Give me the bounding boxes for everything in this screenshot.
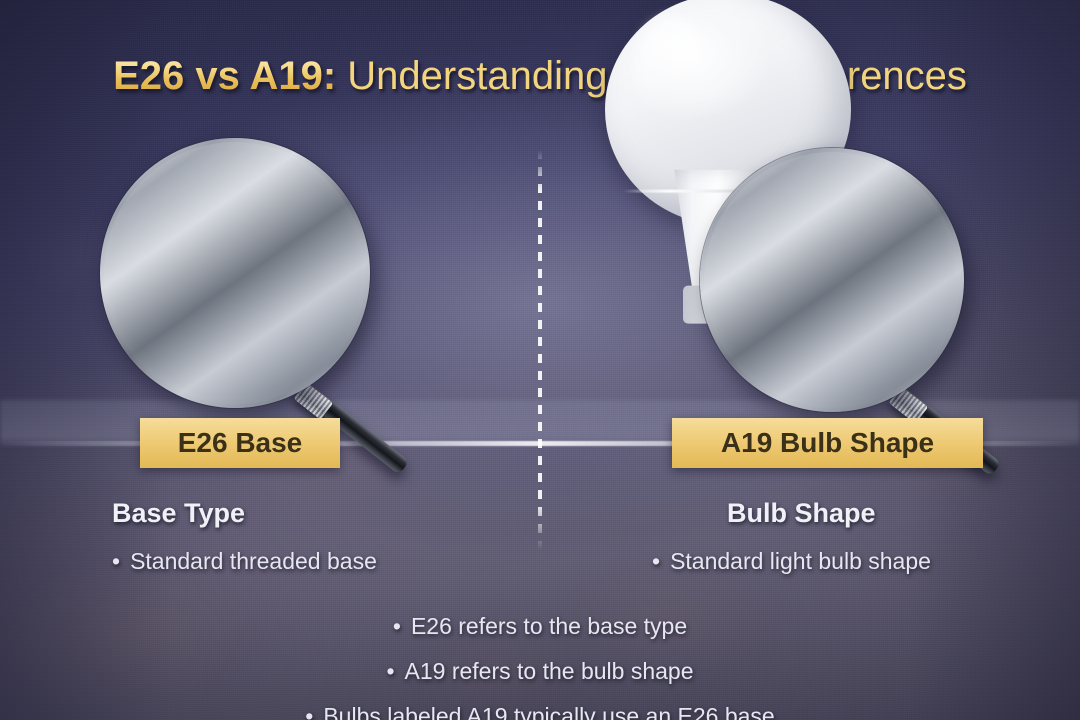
bullet-left-column: •Standard threaded base [112, 548, 377, 575]
bullet-right-column: •Standard light bulb shape [652, 548, 931, 575]
magnifier-left-e26 [100, 138, 370, 408]
magnifier-right-a19 [700, 148, 964, 412]
shared-point-text: E26 refers to the base type [411, 613, 687, 639]
bullet-marker-icon: • [112, 548, 120, 575]
bullet-left-text: Standard threaded base [130, 548, 377, 574]
bullet-marker-icon: • [652, 548, 660, 575]
bullet-marker-icon: • [393, 604, 401, 649]
list-item: •Bulbs labeled A19 typically use an E26 … [0, 694, 1080, 720]
vertical-dashed-divider [538, 150, 542, 550]
shared-point-text: Bulbs labeled A19 typically use an E26 b… [323, 703, 774, 720]
page-title: E26 vs A19: Understanding the Key Differ… [0, 52, 1080, 100]
bullet-right-text: Standard light bulb shape [670, 548, 931, 574]
heading-bulb-shape: Bulb Shape [727, 498, 876, 529]
shared-points-list: •E26 refers to the base type •A19 refers… [0, 604, 1080, 720]
list-item: •A19 refers to the bulb shape [0, 649, 1080, 694]
magnifier-ring-left [100, 138, 370, 408]
page-title-strong: E26 vs A19: [113, 54, 336, 98]
magnifier-ring-right [700, 148, 964, 412]
list-item: •E26 refers to the base type [0, 604, 1080, 649]
bullet-marker-icon: • [305, 694, 313, 720]
badge-a19-bulb-shape: A19 Bulb Shape [672, 418, 983, 468]
infographic-canvas: E26 vs A19: Understanding the Key Differ… [0, 0, 1080, 720]
shared-point-text: A19 refers to the bulb shape [405, 658, 694, 684]
a19-highlight [635, 18, 709, 122]
badge-e26-base: E26 Base [140, 418, 340, 468]
bullet-marker-icon: • [386, 649, 394, 694]
heading-base-type: Base Type [112, 498, 245, 529]
